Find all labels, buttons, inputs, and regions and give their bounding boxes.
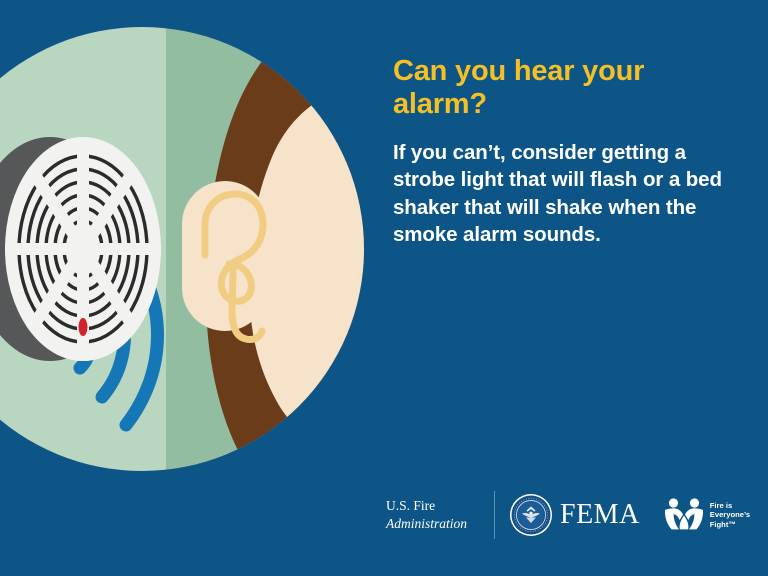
- dhs-seal-icon: [509, 493, 553, 537]
- fief-wordmark: Fire is Everyone’s Fight™: [710, 501, 750, 529]
- illustration-smoke-alarm-hearing: [0, 27, 364, 471]
- footer-divider: [494, 491, 495, 539]
- poster-canvas: Can you hear your alarm? If you can’t, c…: [0, 0, 768, 576]
- fief-line-1: Fire is: [710, 501, 750, 510]
- usfa-line-2: Administration: [386, 515, 484, 533]
- fief-line-3: Fight™: [710, 520, 750, 529]
- alarm-led-icon: [79, 318, 88, 336]
- usfa-wordmark: U.S. Fire Administration: [386, 497, 484, 533]
- fema-lockup: FEMA: [509, 493, 640, 537]
- agency-footer: U.S. Fire Administration FEMA: [386, 484, 758, 546]
- two-people-flame-icon: [662, 495, 706, 535]
- fief-line-2: Everyone’s: [710, 510, 750, 519]
- fema-wordmark: FEMA: [560, 499, 640, 531]
- message-column: Can you hear your alarm? If you can’t, c…: [393, 55, 729, 248]
- usfa-line-1: U.S. Fire: [386, 497, 484, 515]
- page-title: Can you hear your alarm?: [393, 55, 729, 121]
- body-text: If you can’t, consider getting a strobe …: [393, 139, 729, 248]
- fire-is-everyones-fight-lockup: Fire is Everyone’s Fight™: [662, 495, 750, 535]
